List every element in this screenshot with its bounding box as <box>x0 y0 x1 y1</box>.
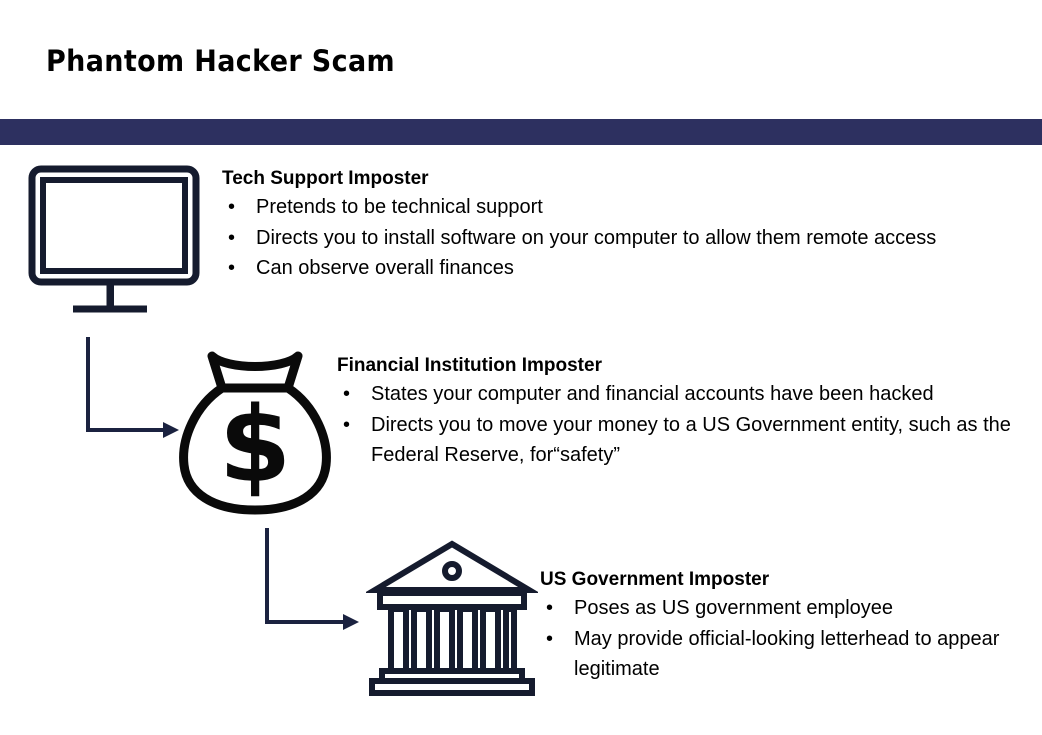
list-item-text: Can observe overall finances <box>256 257 514 279</box>
list-item: • Directs you to install software on you… <box>222 223 1022 254</box>
list-item: • Can observe overall finances <box>222 253 1022 284</box>
monitor-icon <box>28 165 200 320</box>
accent-divider-bar <box>0 119 1042 145</box>
list-item: • Pretends to be technical support <box>222 192 1022 223</box>
list-item: • May provide official-looking letterhea… <box>540 624 1030 685</box>
bullet-dot-icon: • <box>343 379 350 410</box>
money-bag-icon: $ <box>175 343 335 523</box>
section-heading-us-government: US Government Imposter <box>540 567 1030 593</box>
bullet-list-tech-support: • Pretends to be technical support • Dir… <box>222 192 1022 284</box>
arrow-financial-to-government <box>258 524 366 641</box>
svg-text:$: $ <box>219 384 291 506</box>
page-title: Phantom Hacker Scam <box>46 44 395 78</box>
arrow-tech-to-financial <box>80 333 185 448</box>
section-tech-support: Tech Support Imposter • Pretends to be t… <box>222 166 1022 284</box>
bullet-list-us-government: • Poses as US government employee • May … <box>540 593 1030 685</box>
section-heading-tech-support: Tech Support Imposter <box>222 166 1022 192</box>
list-item: • Directs you to move your money to a US… <box>337 410 1027 471</box>
list-item-text: Poses as US government employee <box>574 597 893 619</box>
list-item: • Poses as US government employee <box>540 593 1030 624</box>
list-item-text: States your computer and financial accou… <box>371 383 934 405</box>
bank-building-icon <box>366 538 538 703</box>
section-heading-financial-institution: Financial Institution Imposter <box>337 353 1027 379</box>
bullet-dot-icon: • <box>228 253 235 284</box>
bullet-dot-icon: • <box>546 624 553 655</box>
list-item-text: Directs you to install software on your … <box>256 227 936 249</box>
bullet-dot-icon: • <box>228 223 235 254</box>
bullet-dot-icon: • <box>343 410 350 441</box>
list-item: • States your computer and financial acc… <box>337 379 1027 410</box>
section-financial-institution: Financial Institution Imposter • States … <box>337 353 1027 471</box>
bullet-dot-icon: • <box>546 593 553 624</box>
section-us-government: US Government Imposter • Poses as US gov… <box>540 567 1030 685</box>
bullet-list-financial-institution: • States your computer and financial acc… <box>337 379 1027 471</box>
list-item-text: Directs you to move your money to a US G… <box>371 414 1011 467</box>
list-item-text: May provide official-looking letterhead … <box>574 628 999 681</box>
list-item-text: Pretends to be technical support <box>256 196 543 218</box>
slide-canvas: Phantom Hacker Scam <box>0 0 1042 735</box>
bullet-dot-icon: • <box>228 192 235 223</box>
